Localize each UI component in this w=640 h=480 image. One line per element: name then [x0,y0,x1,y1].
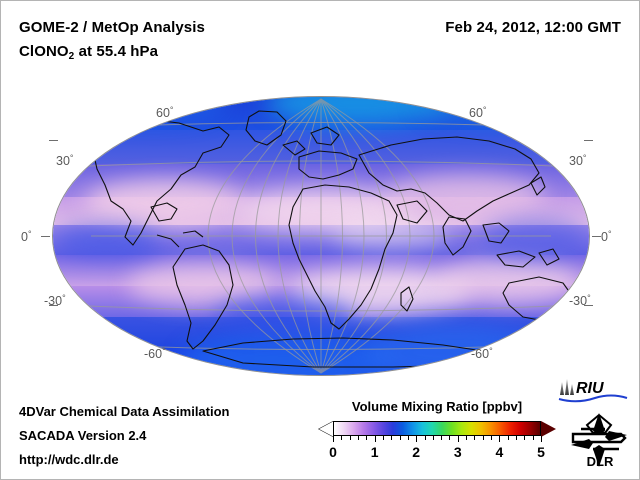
degree-symbol: ° [28,229,32,239]
colorbar-minor-tick [425,436,426,440]
species-subtitle: ClONO2 at 55.4 hPa [19,43,158,62]
colorbar-minor-tick [524,436,525,440]
colorbar-minor-tick [449,436,450,440]
colorbar-minor-tick [483,436,484,440]
colorbar-tick-label: 0 [329,444,337,460]
colorbar-major-tick [458,436,459,442]
degree-symbol: ° [162,346,166,356]
degree-symbol: ° [608,229,612,239]
colorbar-tick-label: 3 [454,444,462,460]
colorbar-tick-label: 4 [495,444,503,460]
visualization-root: GOME-2 / MetOp Analysis ClONO2 at 55.4 h… [0,0,640,480]
colorbar-title: Volume Mixing Ratio [ppbv] [319,399,555,414]
lat-label-left-30: 30° [56,153,74,168]
colorbar-minor-tick [408,436,409,440]
colorbar-minor-tick [508,436,509,440]
colorbar-minor-tick [350,436,351,440]
colorbar: Volume Mixing Ratio [ppbv] 012345 [319,399,555,462]
degree-symbol: ° [587,293,591,303]
colorbar-minor-tick [491,436,492,440]
riu-logo-text: RIU [576,380,604,397]
colorbar-minor-tick [533,436,534,440]
degree-symbol: ° [62,293,66,303]
colorbar-extend-high [541,421,556,437]
world-map [53,97,589,375]
degree-symbol: ° [489,346,493,356]
lat-label-right-0: 0° [601,229,612,244]
lat-label-right-m60: -60° [471,346,493,361]
timestamp: Feb 24, 2012, 12:00 GMT [445,19,621,36]
lat-label-left-60: 60° [156,105,174,120]
pressure-level: at 55.4 hPa [74,43,158,60]
lat-tick [41,236,50,237]
colorbar-minor-tick [433,436,434,440]
method-label: 4DVar Chemical Data Assimilation [19,404,230,419]
colorbar-tick-label: 5 [537,444,545,460]
colorbar-major-tick [375,436,376,442]
lat-label-left-m60: -60° [144,346,166,361]
colorbar-minor-tick [366,436,367,440]
dlr-logo-text: DLR [587,454,614,469]
colorbar-gradient [333,421,541,436]
colorbar-minor-tick [341,436,342,440]
degree-symbol: ° [583,153,587,163]
colorbar-minor-tick [474,436,475,440]
colorbar-minor-tick [441,436,442,440]
colorbar-major-tick [499,436,500,442]
degree-symbol: ° [170,105,174,115]
colorbar-extend-low [319,421,334,437]
lat-label-right-30: 30° [569,153,587,168]
colorbar-minor-tick [400,436,401,440]
lat-label-right-m30: -30° [569,293,591,308]
map-projection-disc [53,97,589,375]
riu-tower-icon [560,379,574,395]
colorbar-tick-label: 1 [371,444,379,460]
page-title: GOME-2 / MetOp Analysis [19,19,205,36]
riu-logo: RIU [557,377,629,403]
lat-label-right-60: 60° [469,105,487,120]
degree-symbol: ° [70,153,74,163]
colorbar-major-tick [333,436,334,442]
version-label: SACADA Version 2.4 [19,428,146,443]
colorbar-tick-labels: 012345 [333,444,541,462]
colorbar-major-tick [541,436,542,442]
colorbar-tick-label: 2 [412,444,420,460]
source-url[interactable]: http://wdc.dlr.de [19,452,119,467]
lat-label-left-0: 0° [21,229,32,244]
colorbar-minor-tick [383,436,384,440]
degree-symbol: ° [483,105,487,115]
colorbar-minor-tick [358,436,359,440]
coastlines [53,97,589,375]
lat-tick [49,140,58,141]
dlr-logo: DLR [569,411,631,469]
colorbar-minor-tick [391,436,392,440]
colorbar-minor-tick [466,436,467,440]
colorbar-major-tick [416,436,417,442]
colorbar-minor-tick [516,436,517,440]
colorbar-ticks [333,436,541,442]
lat-label-left-m30: -30° [44,293,66,308]
lat-tick [584,140,593,141]
species-name: ClONO [19,43,69,60]
lat-tick [592,236,601,237]
